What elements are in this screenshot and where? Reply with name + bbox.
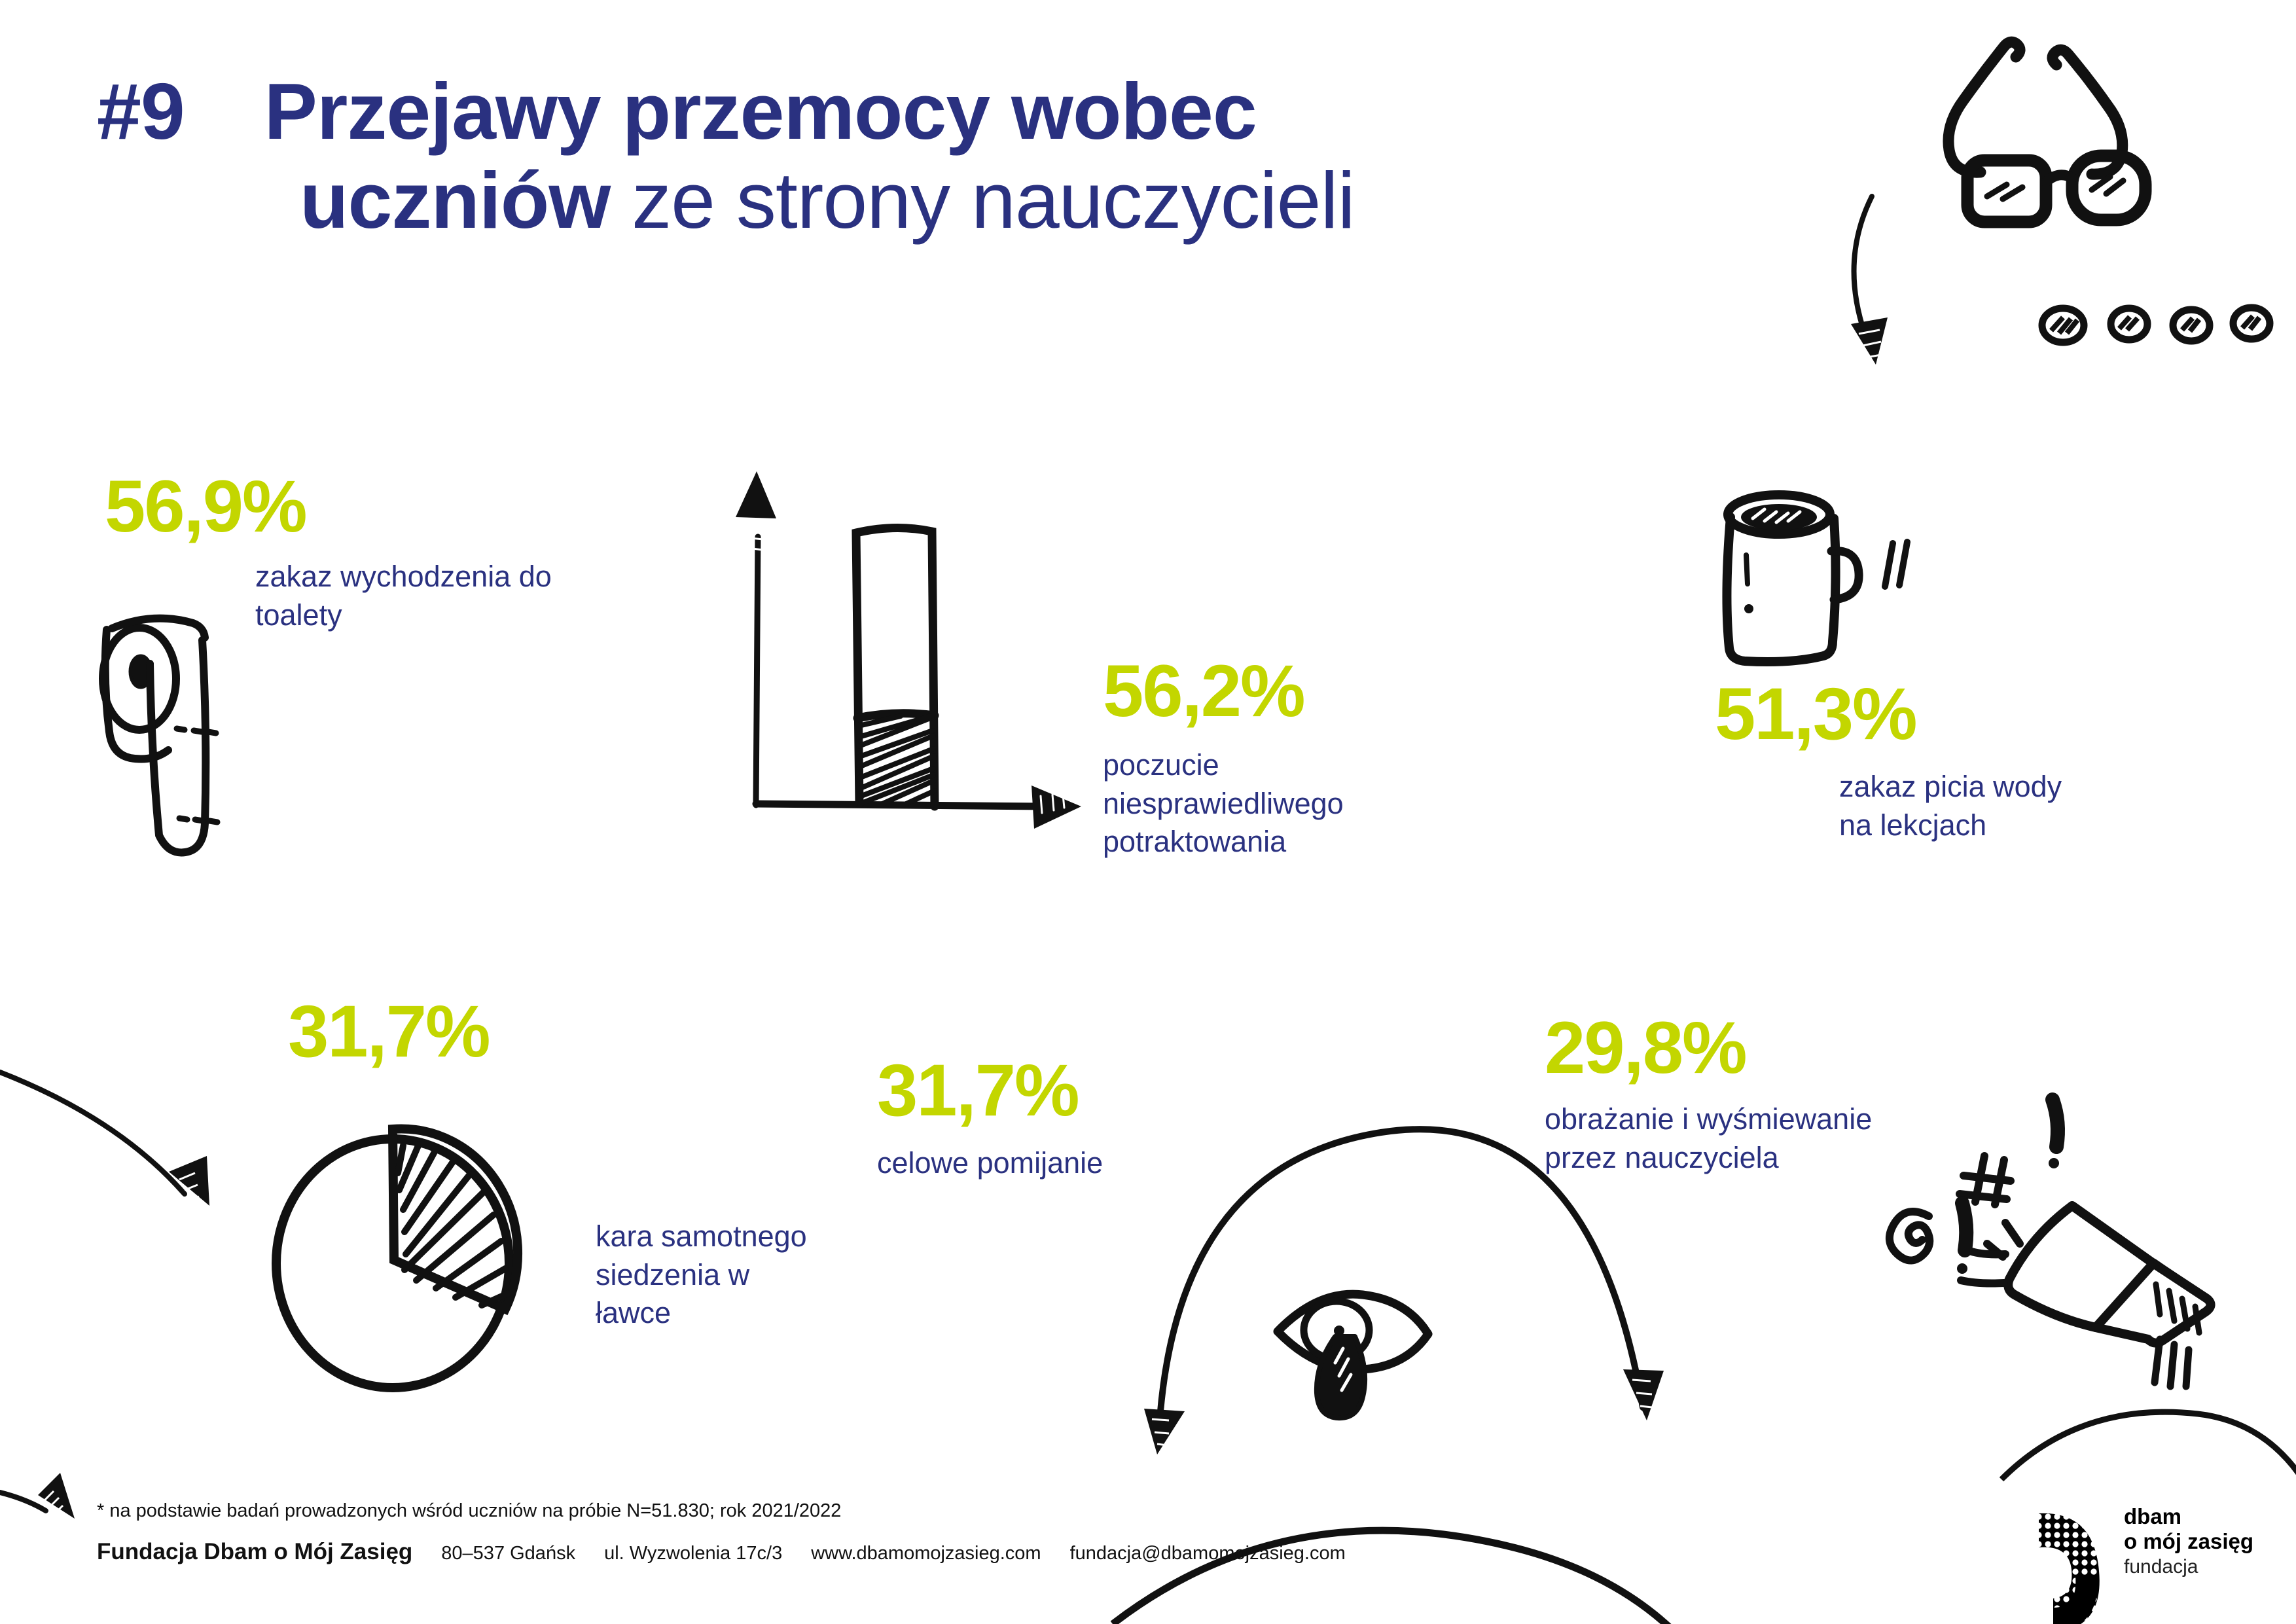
title-line2-emphasis: uczniów [300,156,610,245]
stat-value: 31,7% [877,1054,1139,1127]
bar-chart-icon [736,471,1081,829]
stat-value: 29,8% [1545,1011,1898,1085]
pie-chart-icon [276,1128,518,1388]
curved-arrow-down-icon [1851,196,1888,365]
postcode-city: 80–537 Gdańsk [441,1543,575,1564]
title-line1-text: Przejawy przemocy wobec [264,67,1257,156]
stat-value: 56,9% [105,470,569,543]
stat-label: poczucie niesprawiedliwego potraktowania [1103,746,1456,861]
stat-block-water: 51,3% zakaz picia wody na lekcjach [1715,677,2101,844]
foundation-logo: dbam o mój zasięg fundacja [2032,1496,2253,1587]
stat-label: celowe pomijanie [877,1144,1139,1183]
double-arrow-arch-icon [1144,1129,1664,1454]
arrow-left-bottom-icon [0,1473,75,1519]
stat-value: 31,7% [288,995,490,1068]
logo-line-2: o mój zasięg [2124,1529,2253,1554]
title-line2-text: ze strony nauczycieli [610,156,1354,245]
street-address: ul. Wyzwolenia 17c/3 [604,1543,782,1564]
footnote-text: * na podstawie badań prowadzonych wśród … [97,1500,1346,1522]
website-link[interactable]: www.dbamomojzasieg.com [811,1543,1041,1564]
stat-block-ignoring: 31,7% celowe pomijanie [877,1054,1139,1183]
stat-label: zakaz picia wody na lekcjach [1839,768,2101,844]
stat-block-insults: 29,8% obrażanie i wyśmiewanie przez nauc… [1545,1011,1898,1177]
organization-name: Fundacja Dbam o Mój Zasięg [97,1539,412,1565]
mug-icon [1727,495,1907,662]
logo-line-3: fundacja [2124,1555,2253,1579]
stat-label: zakaz wychodzenia do toalety [255,558,569,634]
footer: * na podstawie badań prowadzonych wśród … [97,1500,1346,1565]
footer-address-row: Fundacja Dbam o Mój Zasięg 80–537 Gdańsk… [97,1539,1346,1565]
logo-line-1: dbam [2124,1504,2253,1529]
curved-arrow-right-icon [0,1072,209,1206]
page-title: #9 Przejawy przemocy wobec uczniów ze st… [97,71,1799,242]
email-link[interactable]: fundacja@dbamomojzasieg.com [1070,1543,1346,1564]
stat-label: obrażanie i wyśmiewanie przez nauczyciel… [1545,1100,1898,1177]
glasses-icon [1948,42,2145,222]
stat-label: kara samotnego siedzenia w ławce [596,1218,818,1333]
stat-block-isolation: 31,7% kara samotnego siedzenia w ławce [288,995,490,1068]
scribble-dots-icon [2042,308,2270,342]
toilet-paper-roll-icon [103,619,217,853]
stat-value: 56,2% [1103,655,1456,728]
stat-block-toilet: 56,9% zakaz wychodzenia do toalety [105,470,569,634]
crying-eye-icon [1278,1294,1428,1418]
stat-block-unfair: 56,2% poczucie niesprawiedliwego potrakt… [1103,655,1456,861]
megaphone-icon [1890,1100,2211,1386]
stat-value: 51,3% [1715,677,2101,751]
title-number: #9 [97,67,185,156]
